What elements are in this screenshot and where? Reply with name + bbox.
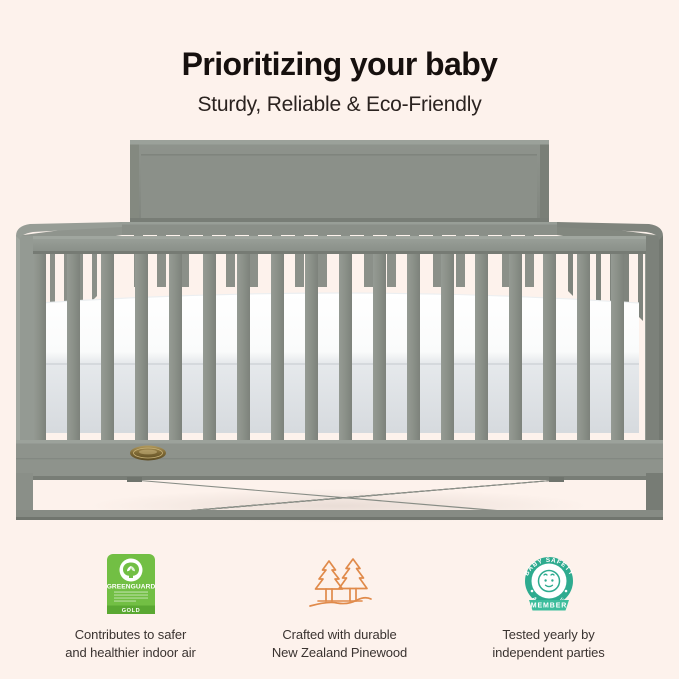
crib-bottom-rail xyxy=(16,440,663,480)
feature-caption-line-2: independent parties xyxy=(492,644,604,662)
feature-greenguard: GREENGUARD GOLD Contributes to safer and… xyxy=(31,552,231,663)
page-title: Prioritizing your baby xyxy=(0,47,679,83)
product-image xyxy=(0,128,679,540)
crib-front-top-rail xyxy=(16,236,663,254)
feature-pinewood: Crafted with durable New Zealand Pinewoo… xyxy=(240,552,440,663)
baby-safety-alliance-seal-icon: BABY SAFETY ALLIANCE MEMBER xyxy=(517,552,581,616)
crib-illustration xyxy=(0,128,679,540)
svg-text:GOLD: GOLD xyxy=(121,608,140,614)
feature-caption-line-1: Crafted with durable xyxy=(272,626,407,644)
feature-caption-line-1: Contributes to safer xyxy=(65,626,196,644)
page-subtitle: Sturdy, Reliable & Eco-Friendly xyxy=(0,92,679,117)
feature-caption: Contributes to safer and healthier indoo… xyxy=(65,626,196,663)
header: Prioritizing your baby Sturdy, Reliable … xyxy=(0,47,679,117)
pine-trees-icon xyxy=(304,552,376,616)
feature-caption: Tested yearly by independent parties xyxy=(492,626,604,663)
feature-caption-line-2: and healthier indoor air xyxy=(65,644,196,662)
product-infographic-page: Prioritizing your baby Sturdy, Reliable … xyxy=(0,0,679,679)
brand-plaque xyxy=(130,446,166,461)
feature-caption-line-2: New Zealand Pinewood xyxy=(272,644,407,662)
feature-badges-row: GREENGUARD GOLD Contributes to safer and… xyxy=(0,552,679,663)
feature-baby-safety: BABY SAFETY ALLIANCE MEMBER Tested yearl… xyxy=(449,552,649,663)
feature-caption: Crafted with durable New Zealand Pinewoo… xyxy=(272,626,407,663)
svg-text:GREENGUARD: GREENGUARD xyxy=(106,584,155,591)
feature-caption-line-1: Tested yearly by xyxy=(492,626,604,644)
crib-headboard xyxy=(130,140,549,222)
svg-text:MEMBER: MEMBER xyxy=(530,603,567,610)
greenguard-gold-badge-icon: GREENGUARD GOLD xyxy=(106,552,156,616)
